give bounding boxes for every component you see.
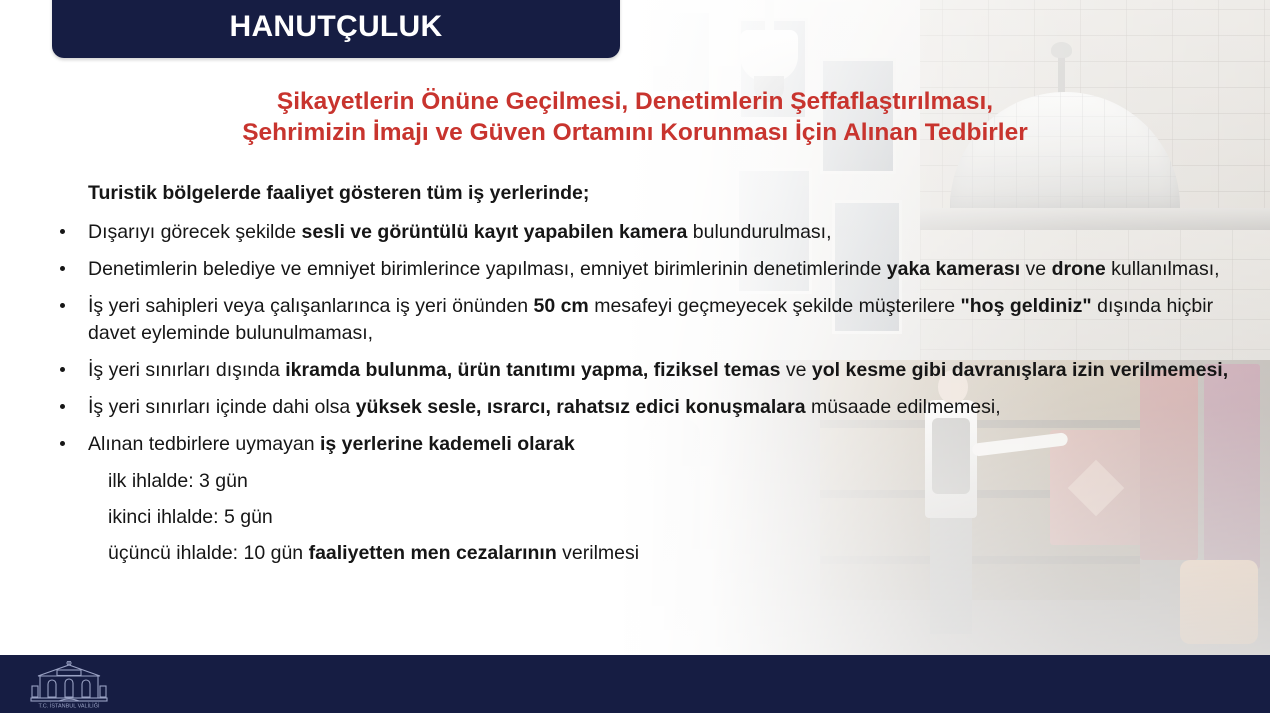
emphasis-text: yol kesme gibi davranışlara izin verilme… — [812, 359, 1228, 381]
penalty-subitem: ilk ihlalde: 3 gün — [108, 468, 1232, 495]
emphasis-text: yüksek sesle, ısrarcı, rahatsız edici ko… — [356, 396, 806, 418]
penalty-subitem-list: ilk ihlalde: 3 günikinci ihlalde: 5 günü… — [108, 468, 1232, 567]
bullet-item: İş yeri sınırları içinde dahi olsa yükse… — [52, 394, 1232, 421]
body-text: verilmesi — [557, 542, 639, 564]
bullet-dot-icon — [60, 404, 65, 409]
page-title: HANUTÇULUK — [230, 0, 443, 44]
penalty-subitem: ikinci ihlalde: 5 gün — [108, 504, 1232, 531]
emphasis-text: faaliyetten men cezalarının — [309, 542, 557, 564]
emphasis-text: "hoş geldiniz" — [961, 295, 1092, 317]
bullet-item: İş yeri sınırları dışında ikramda bulunm… — [52, 357, 1232, 384]
bullet-item: İş yeri sahipleri veya çalışanlarınca iş… — [52, 293, 1232, 347]
bullet-dot-icon — [60, 441, 65, 446]
body-text: müsaade edilmemesi, — [806, 396, 1001, 418]
emphasis-text: 50 cm — [533, 295, 588, 317]
body-text: kullanılması, — [1106, 258, 1220, 280]
istanbul-governorship-logo: T.C. İSTANBUL VALİLİĞİ — [26, 661, 112, 709]
body-text: ikinci ihlalde: 5 gün — [108, 506, 273, 528]
body-text: İş yeri sınırları içinde dahi olsa — [88, 396, 356, 418]
slide-footer: T.C. İSTANBUL VALİLİĞİ — [0, 655, 1270, 713]
logo-caption: T.C. İSTANBUL VALİLİĞİ — [38, 703, 99, 710]
slide-title-tab: HANUTÇULUK — [52, 0, 620, 58]
emphasis-text: yaka kamerası — [887, 258, 1020, 280]
bullet-dot-icon — [60, 303, 65, 308]
bullet-item: Dışarıyı görecek şekilde sesli ve görünt… — [52, 219, 1232, 246]
intro-line: Turistik bölgelerde faaliyet gösteren tü… — [88, 180, 1232, 207]
emphasis-text: iş yerlerine kademeli olarak — [320, 433, 575, 455]
heading-line-1: Şikayetlerin Önüne Geçilmesi, Denetimler… — [277, 88, 993, 115]
body-text: ve — [780, 359, 811, 381]
body-text: ilk ihlalde: 3 gün — [108, 470, 248, 492]
bullet-list: Dışarıyı görecek şekilde sesli ve görünt… — [52, 219, 1232, 458]
bullet-dot-icon — [60, 229, 65, 234]
body-text: üçüncü ihlalde: 10 gün — [108, 542, 309, 564]
penalty-subitem: üçüncü ihlalde: 10 gün faaliyetten men c… — [108, 540, 1232, 567]
bullet-item: Alınan tedbirlere uymayan iş yerlerine k… — [52, 431, 1232, 458]
emphasis-text: ikramda bulunma, ürün tanıtımı yapma, fi… — [285, 359, 780, 381]
body-text: Dışarıyı görecek şekilde — [88, 221, 302, 243]
emphasis-text: drone — [1052, 258, 1106, 280]
heading-line-2: Şehrimizin İmajı ve Güven Ortamını Korun… — [0, 117, 1270, 148]
slide-body: Turistik bölgelerde faaliyet gösteren tü… — [52, 180, 1232, 576]
body-text: ve — [1020, 258, 1051, 280]
bullet-dot-icon — [60, 266, 65, 271]
slide-heading: Şikayetlerin Önüne Geçilmesi, Denetimler… — [0, 86, 1270, 148]
body-text: İş yeri sahipleri veya çalışanlarınca iş… — [88, 295, 533, 317]
bullet-dot-icon — [60, 367, 65, 372]
slide-canvas: HANUTÇULUK Şikayetlerin Önüne Geçilmesi,… — [0, 0, 1270, 713]
body-text: mesafeyi geçmeyecek şekilde müşterilere — [589, 295, 961, 317]
emphasis-text: sesli ve görüntülü kayıt yapabilen kamer… — [302, 221, 688, 243]
body-text: Alınan tedbirlere uymayan — [88, 433, 320, 455]
body-text: Denetimlerin belediye ve emniyet birimle… — [88, 258, 887, 280]
bullet-item: Denetimlerin belediye ve emniyet birimle… — [52, 256, 1232, 283]
body-text: bulundurulması, — [687, 221, 831, 243]
body-text: İş yeri sınırları dışında — [88, 359, 285, 381]
